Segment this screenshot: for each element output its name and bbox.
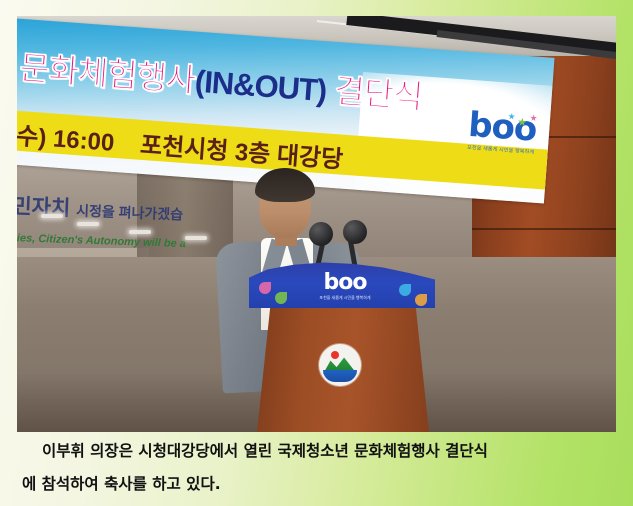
podium-flower-graphic: [399, 284, 411, 296]
podium-banner: boo 포천을 새롭게 시민을 행복하게: [249, 262, 435, 308]
banner-logo-stars: [507, 113, 542, 131]
pocheon-city-emblem-icon: [319, 344, 361, 386]
page-root: 민자치시정을 펴나가겠습 cies, Citizen's Autonomy wi…: [0, 0, 633, 506]
podium-flower-graphic: [259, 282, 271, 294]
banner-subtitle-time: 수) 16:00: [17, 123, 115, 157]
podium-flower-graphic: [415, 294, 427, 306]
caption-line-2: 에 참석하여 축사를 하고 있다.: [18, 466, 615, 502]
podium-logo-text: boo: [315, 272, 375, 294]
banner-title-main: 문화체험행사: [18, 49, 196, 99]
banner-title-inout: (IN&OUT): [194, 64, 328, 109]
news-photo: 민자치시정을 펴나가겠습 cies, Citizen's Autonomy wi…: [17, 16, 616, 432]
podium-boo-logo: boo 포천을 새롭게 시민을 행복하게: [315, 272, 375, 301]
podium-logo-subtext: 포천을 새롭게 시민을 행복하게: [315, 295, 375, 301]
wall-light: [41, 214, 63, 218]
banner-title: 문화체험행사(IN&OUT) 결단식: [18, 41, 424, 118]
wall-slogan-korean: 민자치시정을 펴나가겠습: [17, 190, 184, 227]
banner-title-tail: 결단식: [333, 72, 424, 115]
microphone-head: [309, 222, 333, 246]
caption-line-1: 이부휘 의장은 시청대강당에서 열린 국제청소년 문화체험행사 결단식: [18, 436, 615, 466]
banner-boo-logo: boo 포천을 새롭게 시민을 행복하게: [456, 107, 547, 179]
microphone-head: [343, 220, 367, 244]
podium: boo 포천을 새롭게 시민을 행복하게: [247, 262, 437, 432]
hair: [255, 168, 315, 202]
wall-slogan-korean-small: 시정을 펴나가겠습: [76, 202, 183, 222]
wall-light: [77, 222, 99, 226]
wall-light: [129, 230, 151, 234]
wall-light: [185, 236, 207, 240]
podium-flower-graphic: [275, 292, 287, 304]
photo-caption: 이부휘 의장은 시청대강당에서 열린 국제청소년 문화체험행사 결단식 에 참석…: [0, 436, 633, 502]
